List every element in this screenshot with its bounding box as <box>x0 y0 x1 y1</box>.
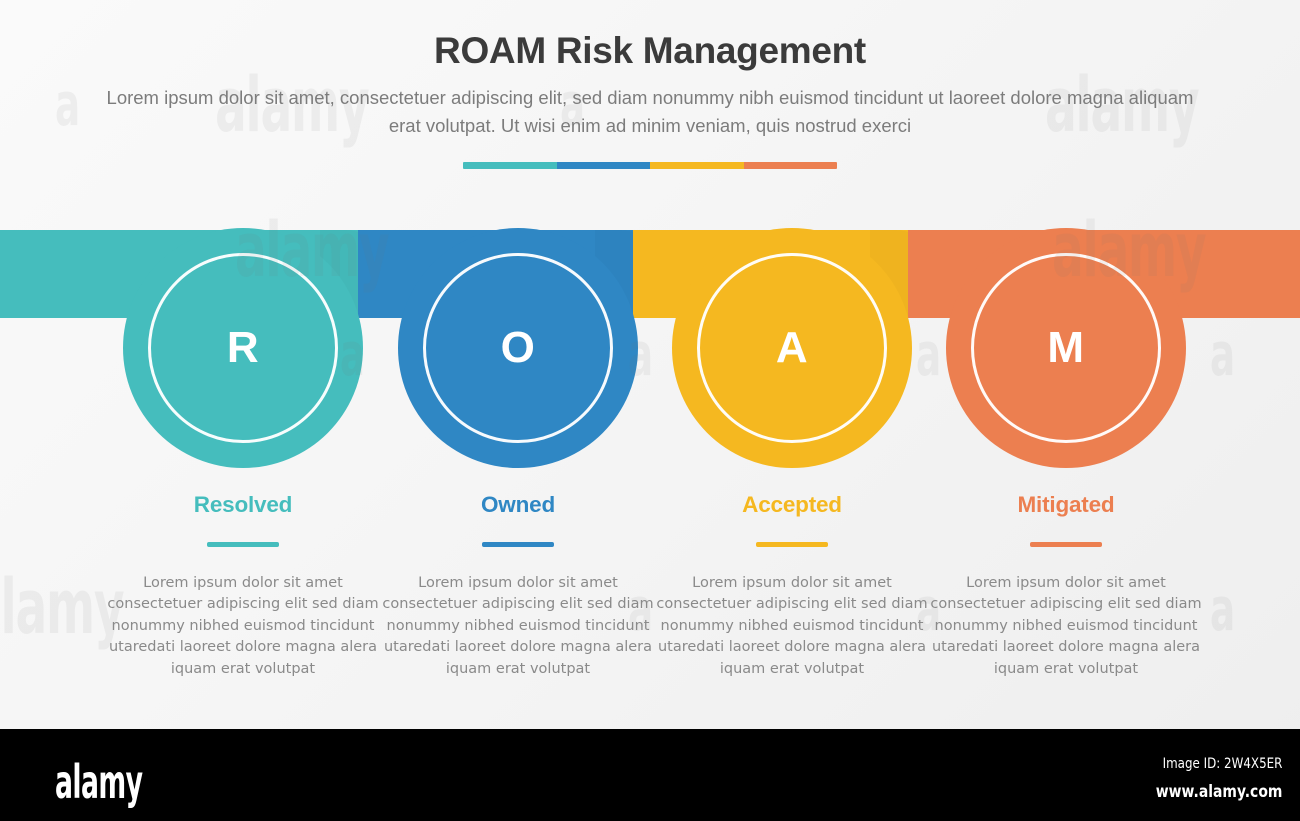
circle-node-owned[interactable]: O <box>398 228 638 468</box>
footer-meta: Image ID: 2W4X5ER www.alamy.com <box>1128 756 1282 802</box>
column-mitigated: Mitigated Lorem ipsum dolor sit amet con… <box>928 492 1204 680</box>
image-id-text: Image ID: 2W4X5ER <box>1155 756 1282 772</box>
header: ROAM Risk Management Lorem ipsum dolor s… <box>0 0 1300 169</box>
column-underline <box>207 542 279 547</box>
circle-row: R O A M <box>0 228 1300 478</box>
watermark-text: a <box>1210 575 1234 645</box>
column-resolved: Resolved Lorem ipsum dolor sit amet cons… <box>105 492 381 680</box>
column-title: Accepted <box>654 492 930 518</box>
column-title: Resolved <box>105 492 381 518</box>
column-underline <box>1030 542 1102 547</box>
infographic-canvas: alamy a a alamy alamy a a alamy a a alam… <box>0 0 1300 821</box>
column-description: Lorem ipsum dolor sit amet consectetuer … <box>105 573 381 680</box>
page-subtitle: Lorem ipsum dolor sit amet, consectetuer… <box>90 84 1210 140</box>
divider-segment-blue <box>557 162 651 169</box>
column-owned: Owned Lorem ipsum dolor sit amet consect… <box>380 492 656 680</box>
circle-node-accepted[interactable]: A <box>672 228 912 468</box>
divider-segment-teal <box>463 162 557 169</box>
column-title: Mitigated <box>928 492 1204 518</box>
column-description: Lorem ipsum dolor sit amet consectetuer … <box>928 573 1204 680</box>
column-accepted: Accepted Lorem ipsum dolor sit amet cons… <box>654 492 930 680</box>
alamy-logo: alamy <box>55 755 142 809</box>
circle-letter: O <box>398 228 638 468</box>
circle-node-resolved[interactable]: R <box>123 228 363 468</box>
column-description: Lorem ipsum dolor sit amet consectetuer … <box>380 573 656 680</box>
column-underline <box>482 542 554 547</box>
circle-letter: M <box>946 228 1186 468</box>
alamy-footer-bar: alamy Image ID: 2W4X5ER www.alamy.com <box>0 729 1300 821</box>
color-divider <box>463 162 837 169</box>
column-underline <box>756 542 828 547</box>
circle-letter: A <box>672 228 912 468</box>
divider-segment-yellow <box>650 162 744 169</box>
alamy-url-text: www.alamy.com <box>1155 782 1282 802</box>
circle-node-mitigated[interactable]: M <box>946 228 1186 468</box>
column-title: Owned <box>380 492 656 518</box>
column-description: Lorem ipsum dolor sit amet consectetuer … <box>654 573 930 680</box>
circle-letter: R <box>123 228 363 468</box>
divider-segment-orange <box>744 162 838 169</box>
page-title: ROAM Risk Management <box>0 30 1300 72</box>
